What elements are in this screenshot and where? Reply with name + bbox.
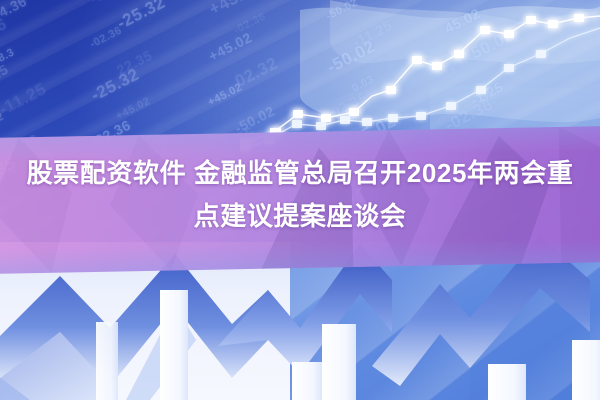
headline-line-2: 点建议提案座谈会: [14, 195, 586, 238]
ticker-value: -11.25: [88, 0, 133, 6]
ticker-value: -02.36: [88, 24, 124, 50]
ticker-value: 44.25: [0, 61, 11, 92]
headline-line-1: 股票配资软件 金融监管总局召开2025年两会重: [14, 152, 586, 195]
ticker-value: -25.32: [114, 0, 169, 34]
headline-text: 股票配资软件 金融监管总局召开2025年两会重 点建议提案座谈会: [0, 152, 600, 238]
ticker-value: +45.02: [206, 81, 244, 108]
ticker-value: -25.32: [88, 65, 143, 106]
ticker-value: 4.36: [0, 0, 29, 20]
ticker-value: -11.25: [0, 79, 50, 120]
banner-image: -02.36-11.25+45.02-50.0245.024.36-25.32-…: [0, 0, 600, 400]
